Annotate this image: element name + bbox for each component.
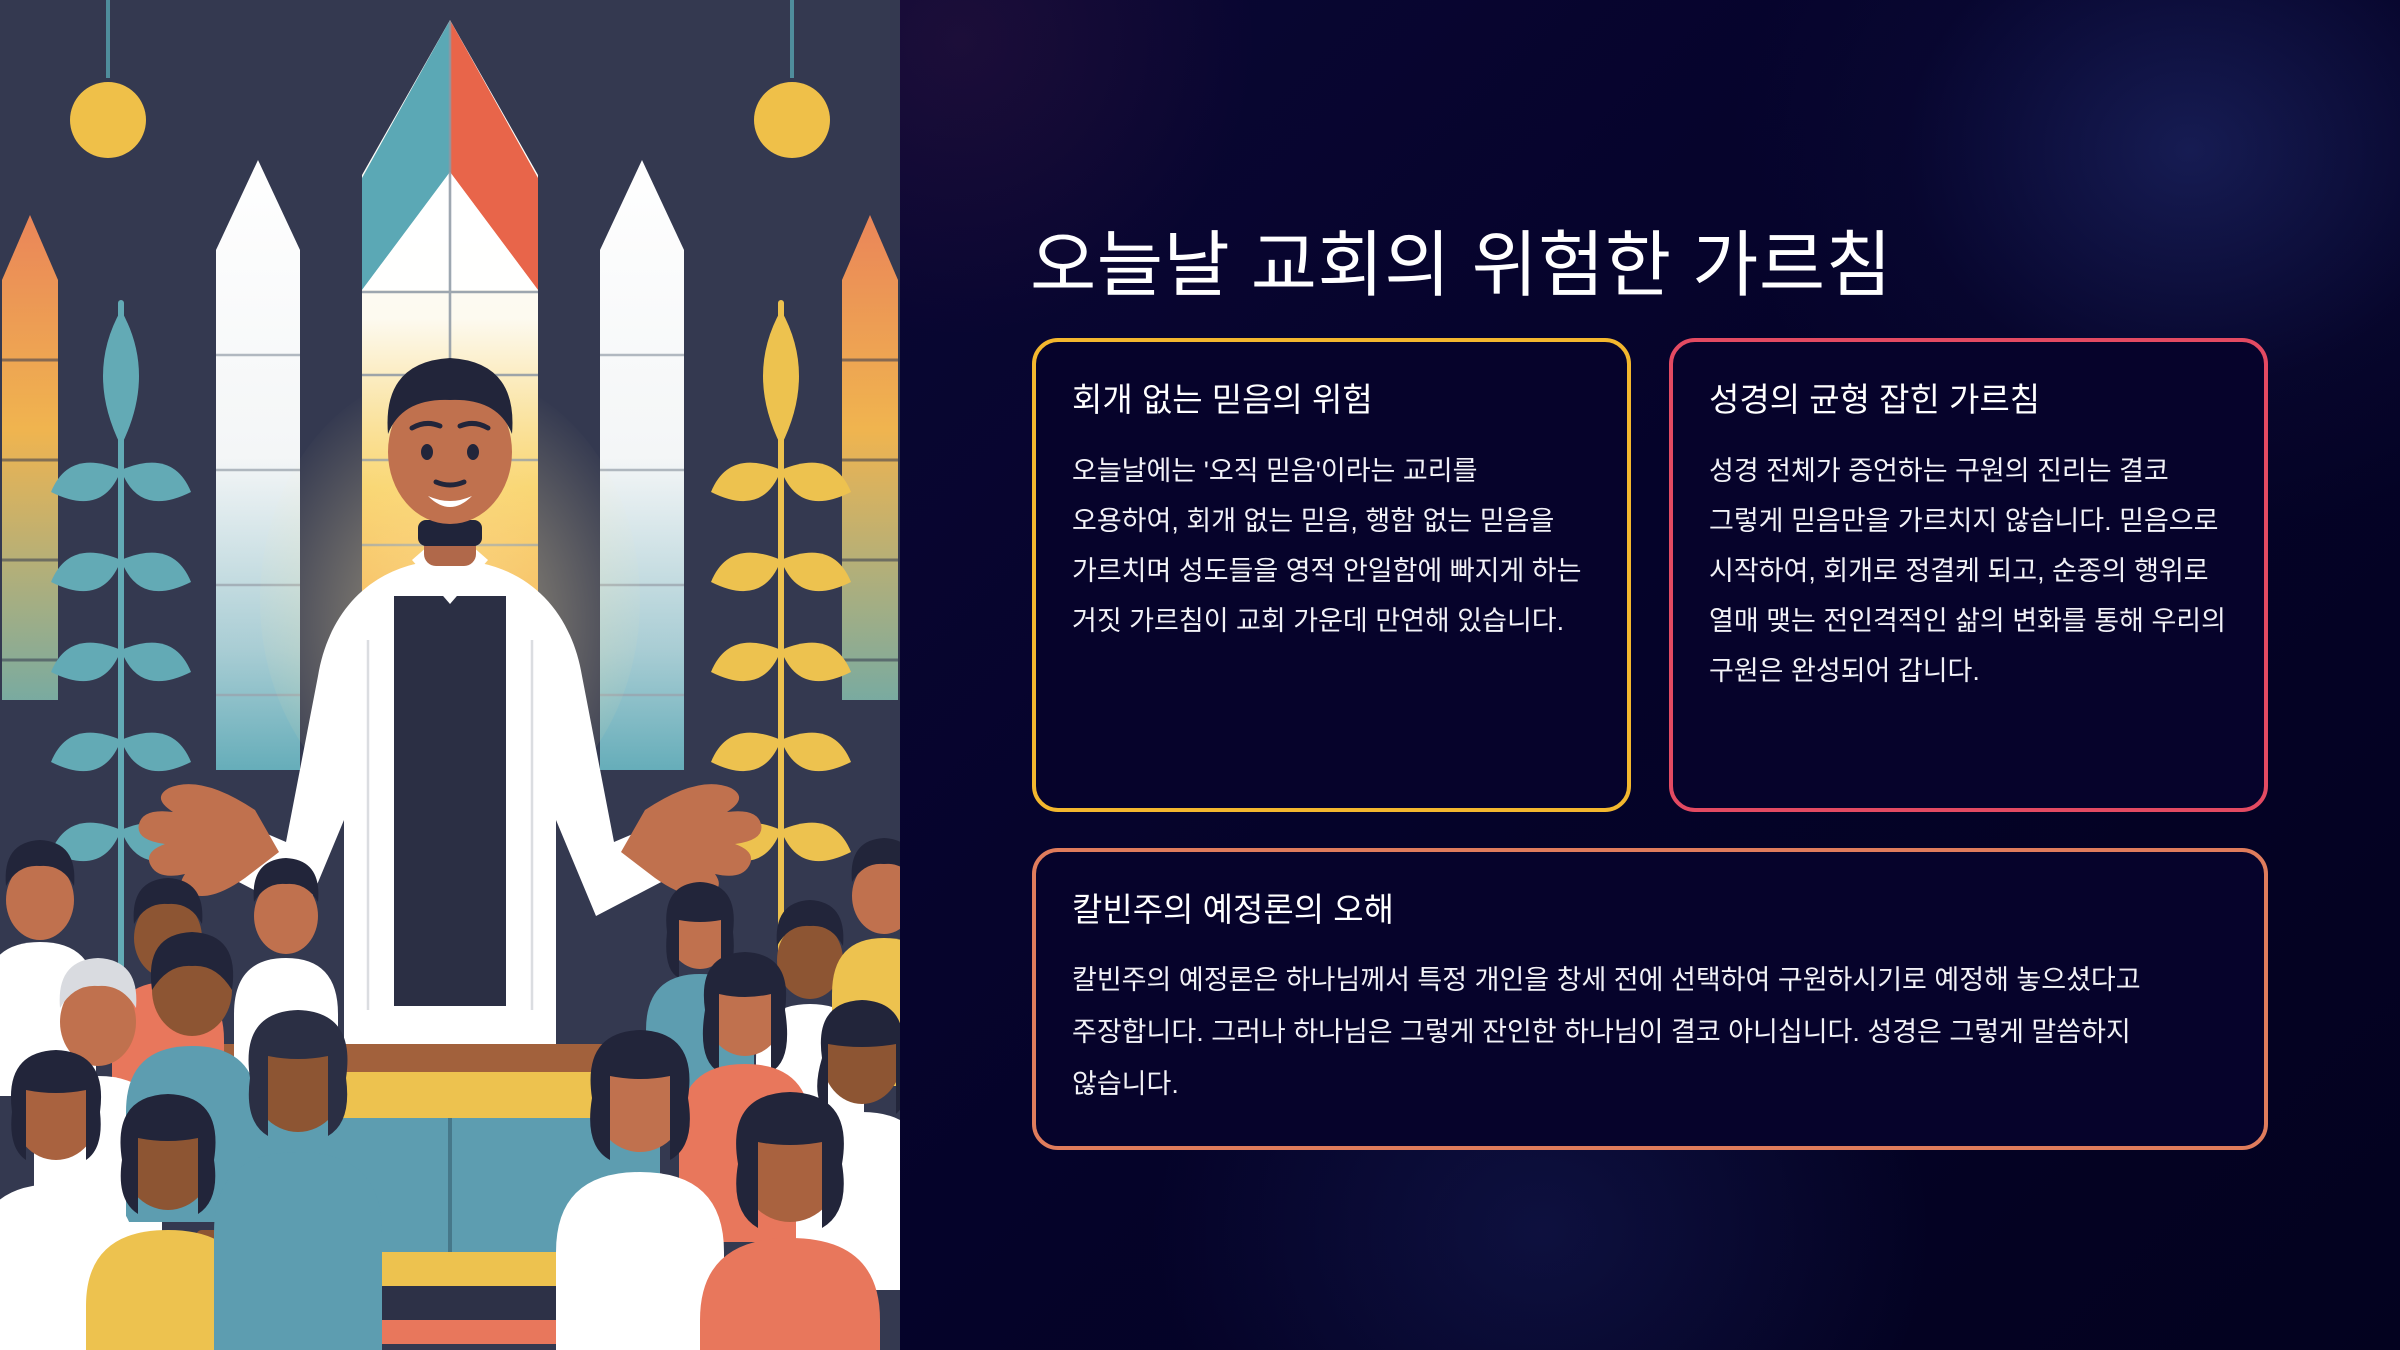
cards-area: 회개 없는 믿음의 위험 오늘날에는 '오직 믿음'이라는 교리를 오용하여, … — [1032, 338, 2268, 1150]
card-body: 칼빈주의 예정론은 하나님께서 특정 개인을 창세 전에 선택하여 구원하시기로… — [1072, 954, 2228, 1110]
card-calvinism-predestination[interactable]: 칼빈주의 예정론의 오해 칼빈주의 예정론은 하나님께서 특정 개인을 창세 전… — [1032, 848, 2268, 1150]
illustration-svg — [0, 0, 900, 1350]
card-title: 회개 없는 믿음의 위험 — [1072, 380, 1591, 420]
card-balanced-scripture[interactable]: 성경의 균형 잡힌 가르침 성경 전체가 증언하는 구원의 진리는 결코 그렇게… — [1669, 338, 2268, 812]
card-body: 성경 전체가 증언하는 구원의 진리는 결코 그렇게 믿음만을 가르치지 않습니… — [1709, 446, 2228, 696]
page-title: 오늘날 교회의 위험한 가르침 — [1030, 224, 1892, 309]
card-faith-without-repentance[interactable]: 회개 없는 믿음의 위험 오늘날에는 '오직 믿음'이라는 교리를 오용하여, … — [1032, 338, 1631, 812]
card-title: 성경의 균형 잡힌 가르침 — [1709, 380, 2228, 420]
card-body: 오늘날에는 '오직 믿음'이라는 교리를 오용하여, 회개 없는 믿음, 행함 … — [1072, 446, 1591, 646]
content-pane: 오늘날 교회의 위험한 가르침 회개 없는 믿음의 위험 오늘날에는 '오직 믿… — [900, 0, 2400, 1350]
card-title: 칼빈주의 예정론의 오해 — [1072, 890, 2228, 930]
card-row-top: 회개 없는 믿음의 위험 오늘날에는 '오직 믿음'이라는 교리를 오용하여, … — [1032, 338, 2268, 812]
slide-root: 오늘날 교회의 위험한 가르침 회개 없는 믿음의 위험 오늘날에는 '오직 믿… — [0, 0, 2400, 1350]
church-sermon-illustration — [0, 0, 900, 1350]
